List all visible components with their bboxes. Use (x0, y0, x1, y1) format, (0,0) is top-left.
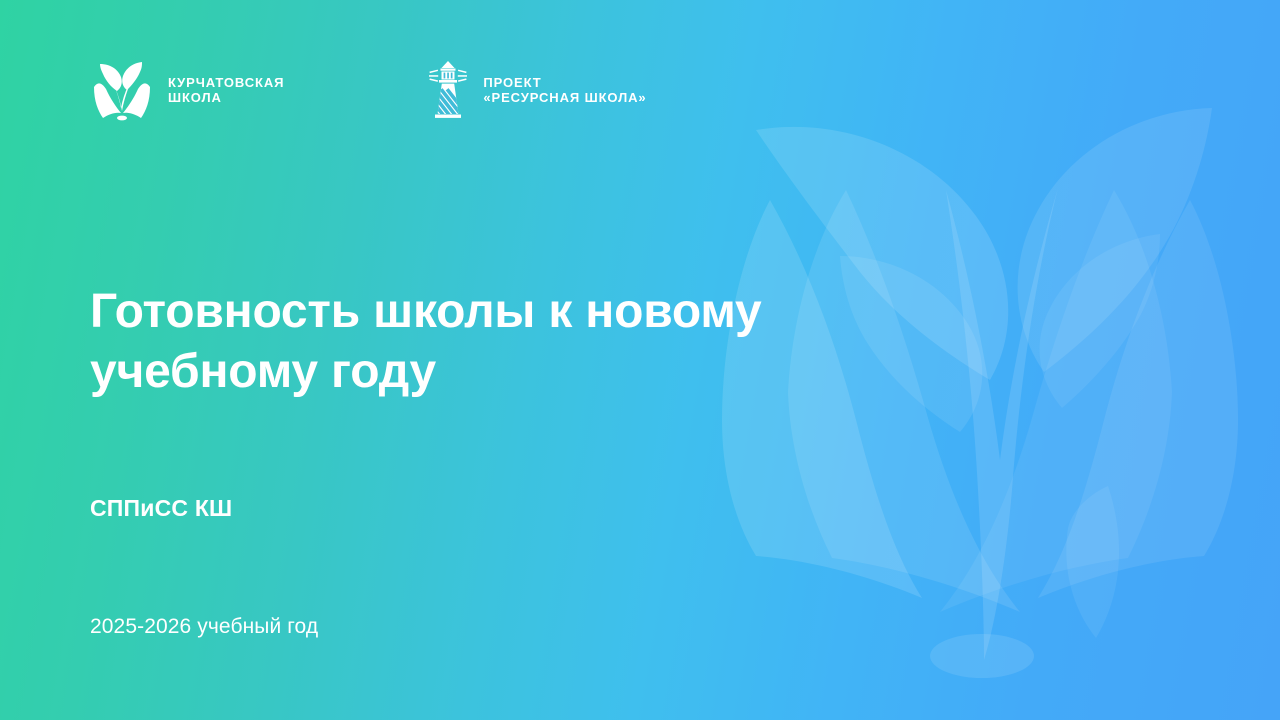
project-logo-line1: ПРОЕКТ (483, 75, 541, 90)
kurchatov-school-logo-lockup: КУРЧАТОВСКАЯ ШКОЛА (90, 58, 284, 122)
school-logo-line2: ШКОЛА (168, 90, 284, 106)
open-book-leaves-logo-icon (90, 58, 154, 122)
resource-school-project-lockup: ПРОЕКТ «РЕСУРСНАЯ ШКОЛА» (427, 58, 646, 122)
slide-title: Готовность школы к новому учебному году (90, 282, 820, 402)
header-logo-row: КУРЧАТОВСКАЯ ШКОЛА (90, 58, 647, 122)
school-logo-line1: КУРЧАТОВСКАЯ (168, 75, 284, 90)
school-logo-text: КУРЧАТОВСКАЯ ШКОЛА (168, 75, 284, 106)
project-logo-line2: «РЕСУРСНАЯ ШКОЛА» (483, 90, 646, 106)
academic-year-label: 2025-2026 учебный год (90, 615, 318, 639)
project-logo-text: ПРОЕКТ «РЕСУРСНАЯ ШКОЛА» (483, 75, 646, 106)
lighthouse-logo-icon (427, 58, 469, 122)
slide-subtitle: СППиСС КШ (90, 495, 232, 522)
presentation-slide: КУРЧАТОВСКАЯ ШКОЛА (0, 0, 1280, 720)
